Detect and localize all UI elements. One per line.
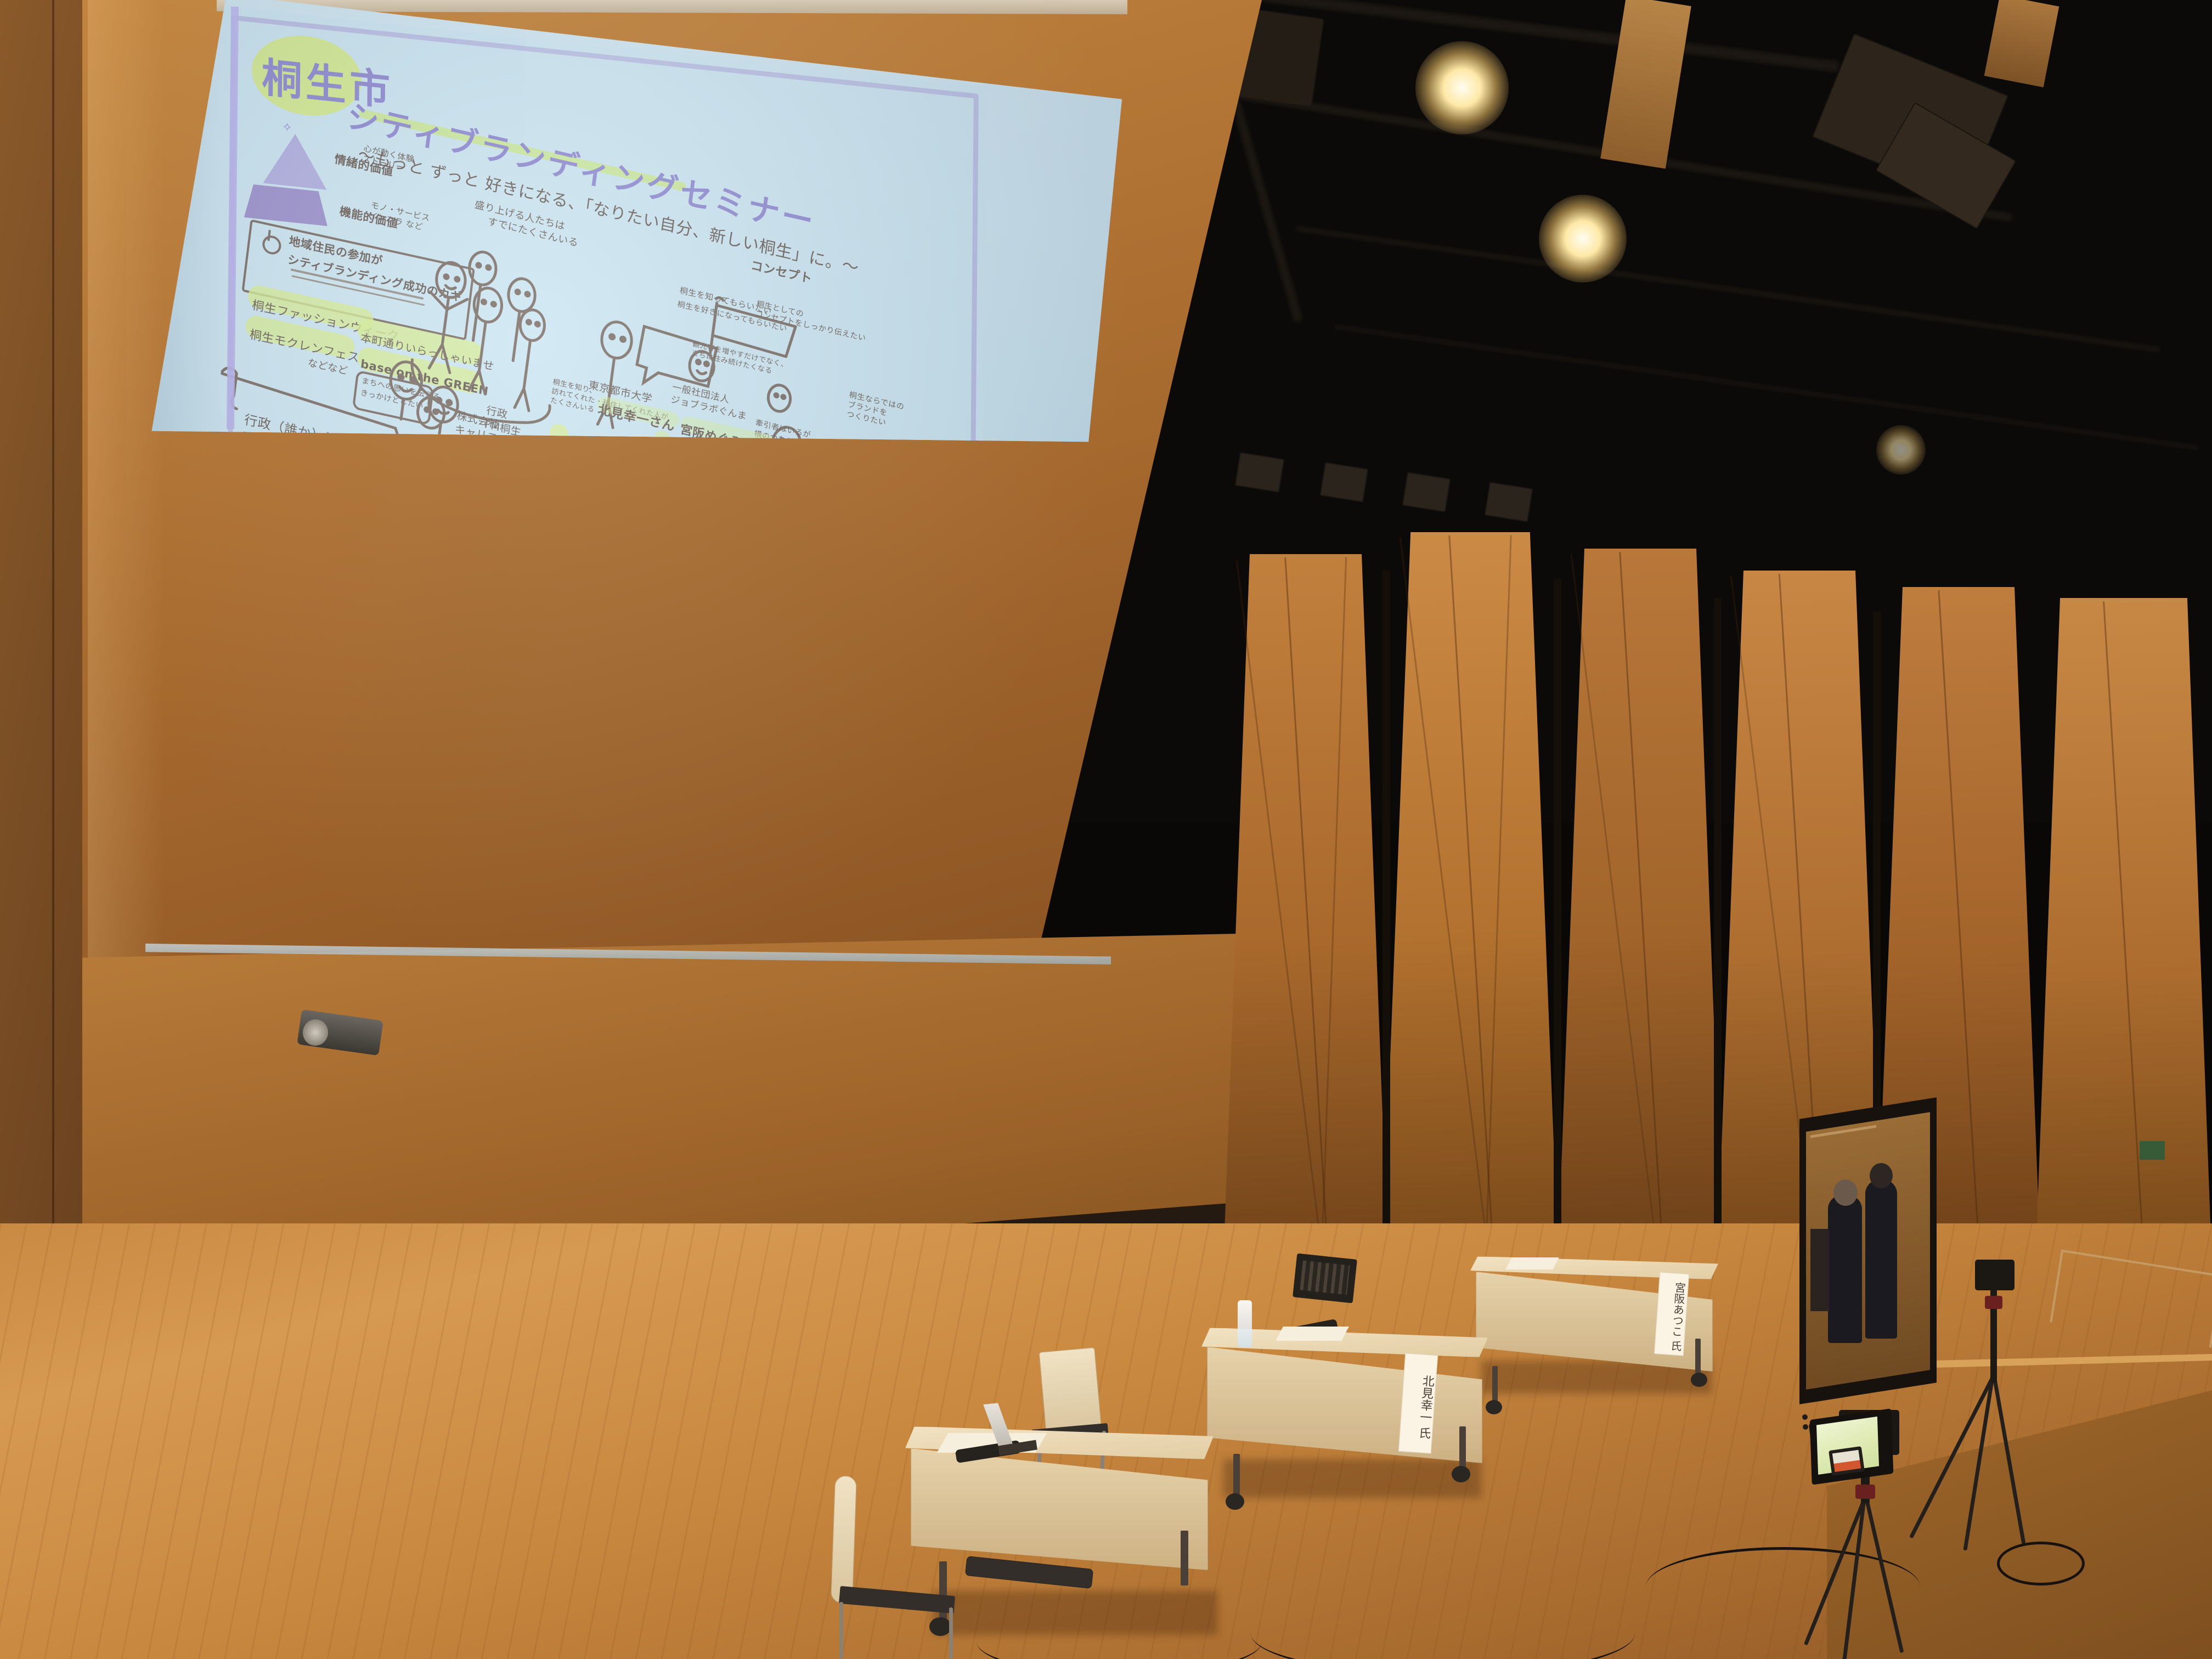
hands-note: 想いがある人を つなぐ仕組みづくり bbox=[846, 521, 919, 556]
water-bottle-table-2[interactable] bbox=[1238, 1300, 1252, 1347]
person-standing-right bbox=[1865, 1180, 1897, 1339]
panel-table-1-leg-2 bbox=[1181, 1531, 1188, 1585]
panel-table-3-caster-2 bbox=[1691, 1373, 1707, 1387]
wall-speaker-4 bbox=[1485, 482, 1533, 522]
person-head-right bbox=[1870, 1163, 1893, 1188]
hr-note: 桐生を盛り上げる 人事部構想 bbox=[811, 456, 815, 457]
chair-back-1[interactable] bbox=[831, 1475, 857, 1603]
ceiling-spotlight-1 bbox=[1415, 41, 1509, 134]
floor-cable-2 bbox=[1251, 1591, 1635, 1659]
autonomy-caption: 行政が主導でやるのは 限界 bbox=[294, 469, 369, 503]
mic-stand-clamp bbox=[1985, 1296, 2002, 1309]
panel-table-3-leg bbox=[1492, 1366, 1498, 1404]
camera-tripod-clamp bbox=[1855, 1485, 1875, 1499]
panel-table-3-caster bbox=[1486, 1400, 1502, 1414]
green-dot-2 bbox=[576, 437, 592, 455]
name-placard-miyasaka[interactable]: 宮阪あつこ 氏 bbox=[1654, 1272, 1689, 1356]
doorway-stool bbox=[1810, 1229, 1829, 1311]
panel-table-2-leg bbox=[1233, 1454, 1240, 1498]
auditorium-scene: 宮阪あつこ 氏 北見幸一 氏 bbox=[0, 0, 2212, 1659]
chair-leg-1b bbox=[949, 1607, 953, 1659]
projected-slide: 桐生市 シティブランディングセミナー 〜もっと ずっと 好きになる、「なりたい自… bbox=[140, 0, 1122, 982]
director-monitor[interactable] bbox=[1803, 1424, 1808, 1430]
chair-leg-1 bbox=[839, 1602, 843, 1659]
acoustic-fan-gap-3 bbox=[1714, 598, 1722, 1262]
panel-table-2-caster-2 bbox=[1452, 1466, 1470, 1482]
mic-stand-head bbox=[1975, 1260, 2015, 1290]
equipment-rack-panel bbox=[1300, 1261, 1350, 1295]
council-note: 桐生市魅力発信協議会 を開発した bbox=[793, 526, 881, 566]
panel-table-2-leg-2 bbox=[1459, 1426, 1466, 1470]
green-dot-3 bbox=[560, 449, 578, 469]
acoustic-fan-panel-2 bbox=[1383, 532, 1558, 1256]
projection-screen-assembly: 桐生市 シティブランディングセミナー 〜もっと ずっと 好きになる、「なりたい自… bbox=[140, 0, 1122, 982]
concept-box bbox=[647, 445, 746, 521]
acoustic-fan-panel-1 bbox=[1223, 554, 1388, 1262]
autonomy-line3: 自主的に取り組んでいる bbox=[242, 443, 391, 494]
group-icon-dot-2 bbox=[366, 486, 380, 505]
acoustic-fan-panel-3 bbox=[1558, 549, 1723, 1256]
ceiling-spotlight-4 bbox=[1876, 425, 1926, 475]
group-icon-dot-3 bbox=[338, 486, 352, 504]
graphic-recording: 桐生市 シティブランディングセミナー 〜もっと ずっと 好きになる、「なりたい自… bbox=[220, 7, 986, 570]
panel-table-3-leg-2 bbox=[1695, 1339, 1701, 1377]
preview-monitor[interactable] bbox=[1802, 1414, 1808, 1420]
speaker-1-highlight bbox=[441, 442, 546, 481]
cable-coil-floor bbox=[1997, 1542, 2085, 1585]
floor-cable-1 bbox=[977, 1607, 1262, 1659]
person-standing-left bbox=[1828, 1195, 1862, 1343]
green-dot-7 bbox=[682, 437, 699, 455]
green-dot-5 bbox=[581, 461, 595, 477]
graphic-recorder-credit: graphic bbox=[271, 470, 317, 491]
paper-on-table-2 bbox=[1276, 1327, 1349, 1341]
projection-screen: 桐生市 シティブランディングセミナー 〜もっと ずっと 好きになる、「なりたい自… bbox=[140, 0, 1122, 982]
group-icon-dot-1 bbox=[352, 471, 368, 493]
speaker-1-name: 横田奈穂さん bbox=[441, 447, 520, 483]
chair-back-2[interactable] bbox=[1039, 1347, 1102, 1435]
acoustic-fan-gap-1 bbox=[1383, 571, 1390, 1262]
paper-on-table-3 bbox=[1505, 1257, 1559, 1269]
wall-speaker-2 bbox=[1320, 462, 1369, 503]
question-note: あとは どう続けていくか bbox=[832, 478, 902, 515]
exit-sign bbox=[2140, 1141, 2165, 1160]
panel-table-2-caster bbox=[1226, 1493, 1244, 1510]
panel-table-1-caster bbox=[929, 1617, 951, 1636]
speaker-portraits bbox=[220, 7, 986, 570]
acoustic-fan-gap-2 bbox=[1554, 579, 1561, 1259]
table-shadow-2 bbox=[1223, 1459, 1481, 1498]
ceiling-spotlight-2 bbox=[1539, 195, 1627, 283]
acoustic-fan-panel-6 bbox=[2035, 598, 2212, 1267]
green-dot-4 bbox=[537, 439, 551, 455]
name-placard-kitami[interactable]: 北見幸一 氏 bbox=[1398, 1353, 1438, 1454]
person-head-left bbox=[1833, 1180, 1858, 1206]
wall-speaker-1 bbox=[1235, 452, 1285, 493]
monitor-small-overlay-screen bbox=[1832, 1450, 1861, 1472]
concept-box-label: コンセプト bbox=[662, 465, 731, 499]
wall-speaker-3 bbox=[1402, 472, 1451, 512]
